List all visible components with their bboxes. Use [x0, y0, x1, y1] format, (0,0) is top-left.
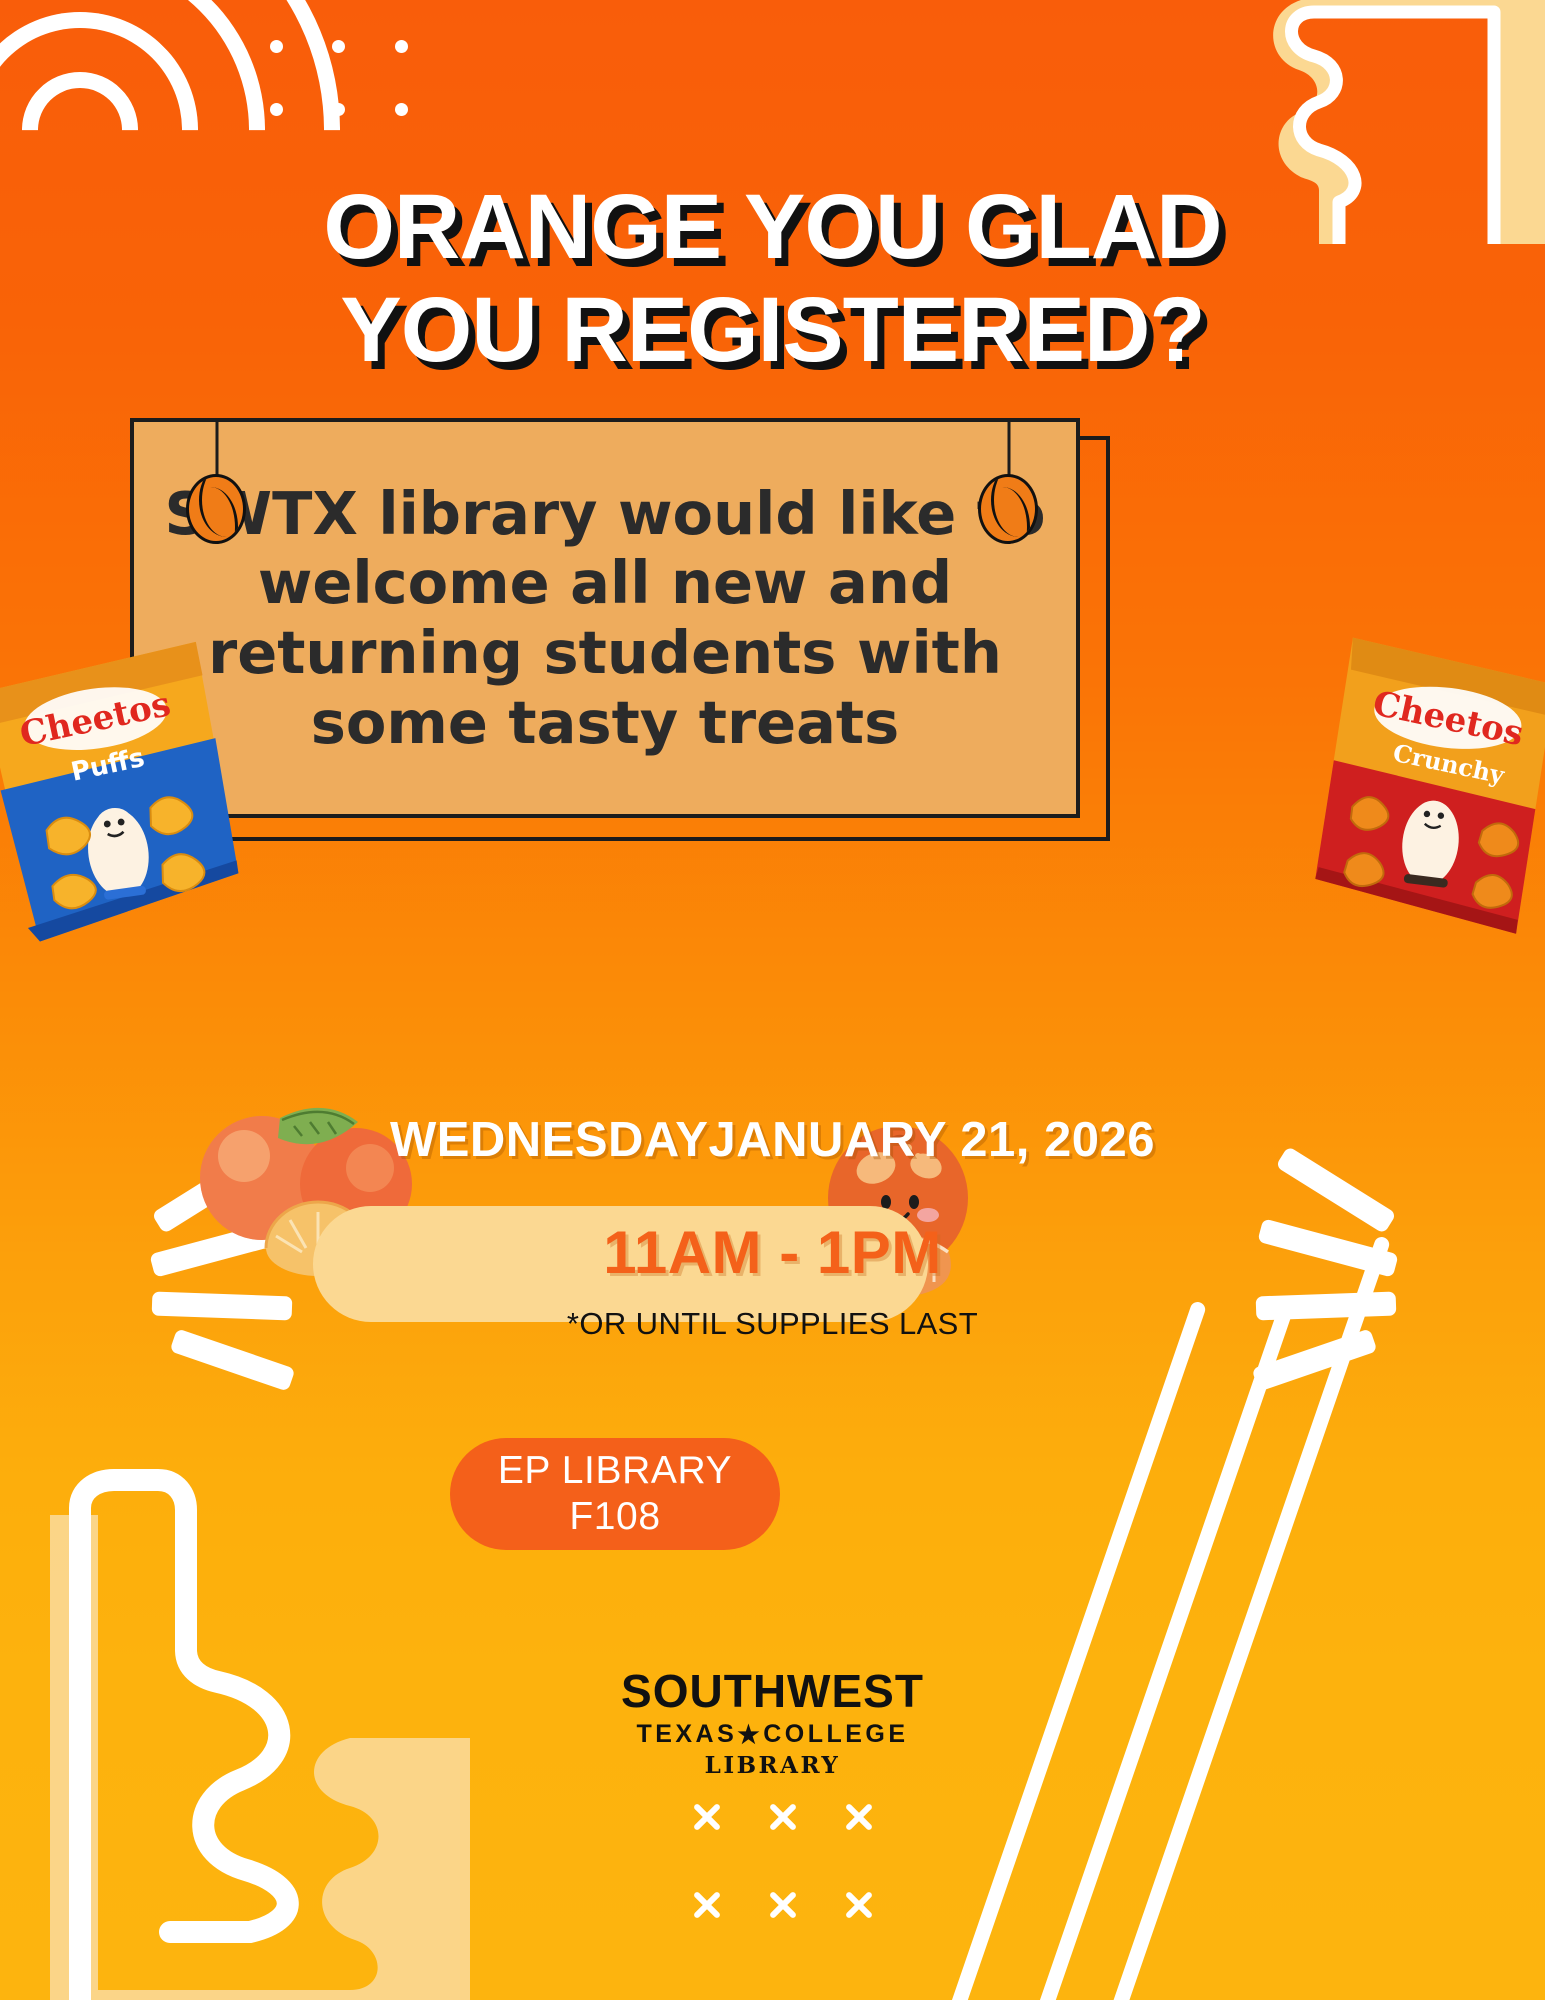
card-panel: SWTX library would like to welcome all n… [130, 418, 1080, 818]
logo-line-library: LIBRARY [0, 1754, 1545, 1777]
cheetos-puffs-bag: Cheetos Puffs [0, 630, 249, 957]
dot-grid-icon [270, 40, 420, 120]
body-card: SWTX library would like to welcome all n… [130, 418, 1090, 836]
event-date: WEDNESDAYJANUARY 21, 2026 [0, 1112, 1545, 1168]
logo-college: COLLEGE [763, 1720, 908, 1748]
hanging-ornament-right [978, 418, 1040, 548]
body-text: SWTX library would like to welcome all n… [134, 479, 1076, 757]
star-icon: ★ [737, 1723, 763, 1748]
location-pill: EP LIBRARY F108 [450, 1438, 780, 1550]
location-line-2: F108 [569, 1494, 660, 1540]
logo-line-southwest: SOUTHWEST [0, 1668, 1545, 1714]
logo-line-texas-college: TEXAS★COLLEGE [0, 1722, 1545, 1747]
headline-line-1: ORANGE YOU GLAD [323, 176, 1221, 278]
hanging-ornament-left [186, 418, 248, 548]
swtx-library-logo: SOUTHWEST TEXAS★COLLEGE LIBRARY [0, 1668, 1545, 1777]
page-title: ORANGE YOU GLAD YOU REGISTERED? [0, 176, 1545, 382]
event-time: 11AM - 1PM [0, 1218, 1545, 1287]
headline-line-2: YOU REGISTERED? [0, 279, 1545, 382]
cheetos-crunchy-bag: Cheetos Crunchy [1311, 619, 1545, 945]
logo-texas: TEXAS [636, 1720, 737, 1748]
location-line-1: EP LIBRARY [498, 1448, 732, 1494]
supplies-note: *OR UNTIL SUPPLIES LAST [0, 1306, 1545, 1342]
x-grid-icon [690, 1800, 880, 1935]
poster-canvas: ORANGE YOU GLAD YOU REGISTERED? SWTX lib… [0, 0, 1545, 2000]
